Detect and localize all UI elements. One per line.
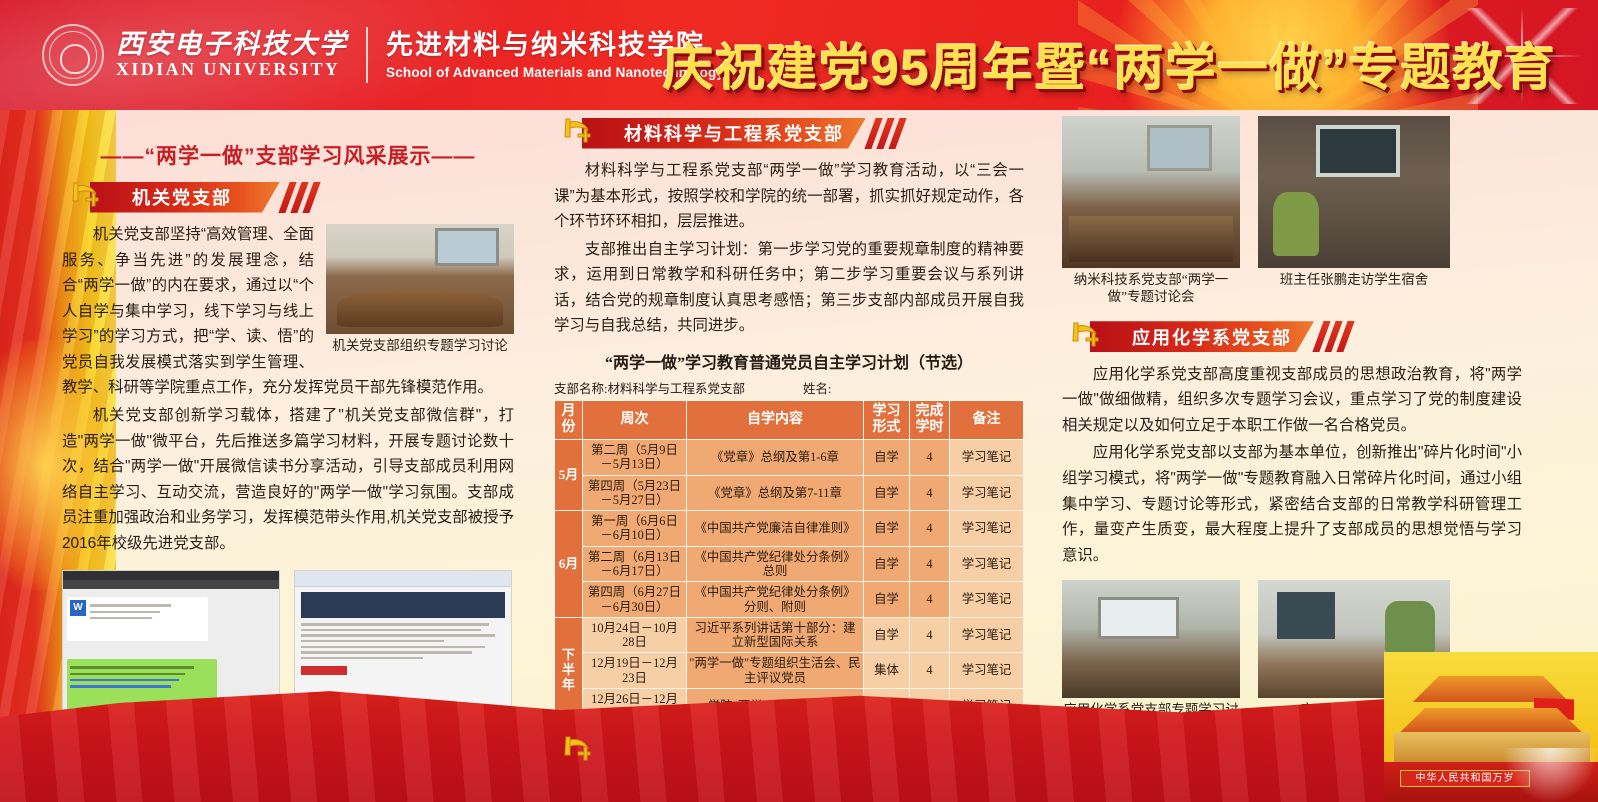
chat-bubble-file: W <box>67 597 208 641</box>
section-title-chem: 应用化学系党支部 <box>1090 324 1314 350</box>
cell-week: 第四周（5月23日－5月27日） <box>583 475 687 511</box>
section-title-jiguan: 机关党支部 <box>90 184 254 210</box>
cell-note: 学习笔记 <box>950 617 1024 653</box>
left-body-text: 机关党支部组织专题学习讨论 机关党支部坚持“高效管理、全面服务、争当先进”的发展… <box>62 222 514 556</box>
photo-chem-discussion <box>1062 580 1240 698</box>
cell-month: 5月 <box>555 440 583 511</box>
logo-divider <box>366 27 368 83</box>
cell-form: 自学 <box>864 511 910 547</box>
th-form: 学习形式 <box>864 400 910 439</box>
cell-week: 第一周（6月6日－6月10日） <box>583 511 687 547</box>
badge-slashes-decor <box>1318 321 1354 352</box>
cell-note: 学习笔记 <box>950 582 1024 618</box>
photo-row-top: 纳米科技系党支部“两学一做”专题讨论会 班主任张鹏走访学生宿舍 <box>1062 116 1522 306</box>
column-middle: 材料科学与工程系党支部 材料科学与工程系党支部“两学一做”学习教育活动，以“三会… <box>554 112 1024 802</box>
left-paragraph-2: 机关党支部创新学习载体，搭建了"机关党支部微信群"，打造"两学一做"微平台，先后… <box>62 403 514 556</box>
cell-content: 习近平系列讲话第十部分：建立新型国际关系 <box>687 617 864 653</box>
table-row: 第四周（5月23日－5月27日） 《党章》总纲及第7-11章 自学 4 学习笔记 <box>555 475 1024 511</box>
cell-content: 《中国共产党纪律处分条例》总则 <box>687 546 864 582</box>
column-left: ——“两学一做”支部学习风采展示—— 机关党支部 <box>62 112 514 741</box>
cell-week: 第二周（5月9日－5月13日） <box>583 440 687 476</box>
section-badge-chem: 应用化学系党支部 <box>1062 320 1522 354</box>
cell-form: 自学 <box>864 475 910 511</box>
university-crest-icon <box>42 24 104 86</box>
th-note: 备注 <box>950 400 1024 439</box>
cell-content: 《中国共产党纪律处分条例》分则、附则 <box>687 582 864 618</box>
table-row: 6月 第一周（6月6日－6月10日） 《中国共产党廉洁自律准则》 自学 4 学习… <box>555 511 1024 547</box>
badge-ribbon: 应用化学系党支部 <box>1090 321 1314 352</box>
table-row: 5月 第二周（5月9日－5月13日） 《党章》总纲及第1-6章 自学 4 学习笔… <box>555 440 1024 476</box>
screenshot-text-lines <box>295 587 511 680</box>
table-row: 下半年 10月24日－10月28日 习近平系列讲话第十部分：建立新型国际关系 自… <box>555 617 1024 653</box>
cell-week: 第四周（6月27日－6月30日） <box>583 582 687 618</box>
table-header-row: 月份 周次 自学内容 学习形式 完成学时 备注 <box>555 400 1024 439</box>
cell-note: 学习笔记 <box>950 546 1024 582</box>
bottom-red-wave-decor <box>0 684 1598 802</box>
university-names: 西安电子科技大学 XIDIAN UNIVERSITY <box>116 30 348 81</box>
section-badge-material: 材料科学与工程系党支部 <box>554 116 1024 150</box>
badge-slashes-decor <box>870 118 906 149</box>
cell-month: 下半年 <box>555 617 583 724</box>
university-name-cn: 西安电子科技大学 <box>116 30 348 58</box>
badge-slashes-decor <box>284 182 320 213</box>
cell-form: 集体 <box>864 653 910 689</box>
name-label: 姓名: <box>803 382 831 396</box>
cell-content: 《党章》总纲及第1-6章 <box>687 440 864 476</box>
photo-block-dorm-visit: 班主任张鹏走访学生宿舍 <box>1258 116 1450 306</box>
cell-form: 自学 <box>864 546 910 582</box>
poster-main-title: 庆祝建党95周年暨“两学一做”专题教育 <box>640 28 1580 100</box>
th-month: 月份 <box>555 400 583 439</box>
screenshot-statusbar <box>63 571 279 580</box>
cell-content: 《党章》总纲及第7-11章 <box>687 475 864 511</box>
middle-paragraph-2: 支部推出自主学习计划：第一步学习党的重要规章制度的精神要求，运用到日常教学和科研… <box>554 237 1024 339</box>
cell-content: "两学一做"专题组织生活会、民主评议党员 <box>687 653 864 689</box>
photo-caption-jiguan: 机关党支部组织专题学习讨论 <box>326 338 514 355</box>
column-right: 纳米科技系党支部“两学一做”专题讨论会 班主任张鹏走访学生宿舍 <box>1062 112 1522 736</box>
cell-week: 10月24日－10月28日 <box>583 617 687 653</box>
cell-hours: 4 <box>910 511 950 547</box>
table-body: 5月 第二周（5月9日－5月13日） 《党章》总纲及第1-6章 自学 4 学习笔… <box>555 440 1024 724</box>
table-row: 第四周（6月27日－6月30日） 《中国共产党纪律处分条例》分则、附则 自学 4… <box>555 582 1024 618</box>
fountain-spray-decor <box>1504 748 1598 802</box>
cell-hours: 4 <box>910 582 950 618</box>
cell-content: 《中国共产党廉洁自律准则》 <box>687 511 864 547</box>
cell-form: 自学 <box>864 582 910 618</box>
word-doc-icon: W <box>70 600 86 616</box>
cell-note: 学习笔记 <box>950 511 1024 547</box>
cell-form: 自学 <box>864 440 910 476</box>
photo-nano-discussion <box>1062 116 1240 268</box>
party-emblem-icon <box>558 728 598 768</box>
photo-dorm-visit <box>1258 116 1450 268</box>
cell-week: 第二周（6月13日－6月17日） <box>583 546 687 582</box>
photo-caption-dorm-visit: 班主任张鹏走访学生宿舍 <box>1258 272 1450 289</box>
photo-jiguan-meeting <box>326 224 514 334</box>
right-paragraph-2: 应用化学系党支部以支部为基本单位，创新推出"碎片化时间"小组学习模式，将"两学一… <box>1062 440 1522 568</box>
university-name-en: XIDIAN UNIVERSITY <box>116 58 348 81</box>
party-emblem-icon <box>66 174 106 214</box>
poster-canvas: 西安电子科技大学 XIDIAN UNIVERSITY 先进材料与纳米科技学院 S… <box>0 0 1598 802</box>
study-plan-table: 月份 周次 自学内容 学习形式 完成学时 备注 5月 第二周（5月9日－5月13… <box>554 400 1024 724</box>
right-body-text: 应用化学系党支部高度重视支部成员的思想政治教育，将"两学一做"做细做精，组织多次… <box>1062 362 1522 569</box>
cell-note: 学习笔记 <box>950 653 1024 689</box>
middle-body-text: 材料科学与工程系党支部“两学一做”学习教育活动，以“三会一课”为基本形式，按照学… <box>554 158 1024 339</box>
section-title-material: 材料科学与工程系党支部 <box>582 120 866 146</box>
middle-paragraph-1: 材料科学与工程系党支部“两学一做”学习教育活动，以“三会一课”为基本形式，按照学… <box>554 158 1024 235</box>
table-row: 第二周（6月13日－6月17日） 《中国共产党纪律处分条例》总则 自学 4 学习… <box>555 546 1024 582</box>
plan-table-subline: 支部名称:材料科学与工程系党支部姓名: <box>554 378 1024 397</box>
cell-hours: 4 <box>910 546 950 582</box>
university-logo-block: 西安电子科技大学 XIDIAN UNIVERSITY 先进材料与纳米科技学院 S… <box>42 24 724 86</box>
content-panel: ——“两学一做”支部学习风采展示—— 机关党支部 <box>62 112 1522 712</box>
plan-table-title: “两学一做”学习教育普通党员自主学习计划（节选） <box>554 349 1024 373</box>
th-content: 自学内容 <box>687 400 864 439</box>
photo-block-nano-discussion: 纳米科技系党支部“两学一做”专题讨论会 <box>1062 116 1240 306</box>
cell-week: 12月19日－12月23日 <box>583 653 687 689</box>
badge-ribbon: 材料科学与工程系党支部 <box>582 118 866 149</box>
right-paragraph-1: 应用化学系党支部高度重视支部成员的思想政治教育，将"两学一做"做细做精，组织多次… <box>1062 362 1522 439</box>
section-badge-jiguan: 机关党支部 <box>62 180 514 214</box>
cell-hours: 4 <box>910 475 950 511</box>
cell-form: 自学 <box>864 617 910 653</box>
cell-hours: 4 <box>910 440 950 476</box>
party-emblem-icon <box>558 110 598 150</box>
th-week: 周次 <box>583 400 687 439</box>
table-row: 12月19日－12月23日 "两学一做"专题组织生活会、民主评议党员 集体 4 … <box>555 653 1024 689</box>
photo-block-jiguan: 机关党支部组织专题学习讨论 <box>326 224 514 355</box>
showcase-title: ——“两学一做”支部学习风采展示—— <box>62 140 514 170</box>
party-emblem-icon <box>1066 314 1106 354</box>
screenshot-navbar <box>63 580 279 589</box>
cell-note: 学习笔记 <box>950 475 1024 511</box>
cell-hours: 4 <box>910 653 950 689</box>
cell-hours: 4 <box>910 617 950 653</box>
branch-value: 材料科学与工程系党支部 <box>607 382 745 396</box>
tiananmen-gate-icon: 中华人民共和国万岁 <box>1384 652 1598 802</box>
badge-ribbon: 机关党支部 <box>90 182 280 213</box>
poster-header: 西安电子科技大学 XIDIAN UNIVERSITY 先进材料与纳米科技学院 S… <box>0 0 1598 110</box>
branch-label: 支部名称: <box>554 382 607 396</box>
cell-note: 学习笔记 <box>950 440 1024 476</box>
th-hours: 完成学时 <box>910 400 950 439</box>
cell-month: 6月 <box>555 511 583 618</box>
photo-caption-nano-discussion: 纳米科技系党支部“两学一做”专题讨论会 <box>1062 272 1240 306</box>
